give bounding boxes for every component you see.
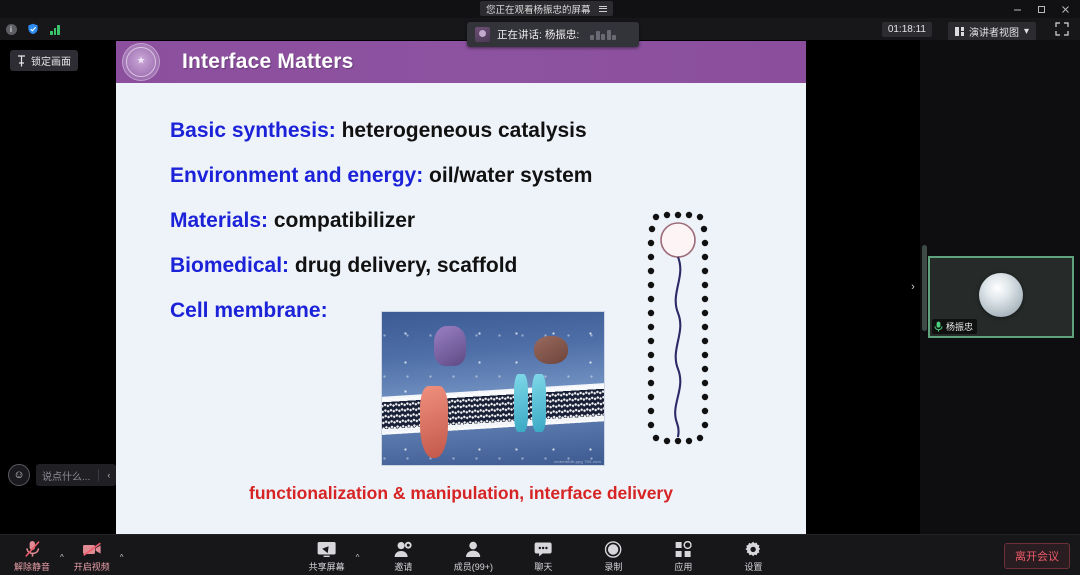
surfactant-diagram	[644, 209, 714, 449]
invite-button[interactable]: 邀请	[377, 537, 429, 574]
chat-button[interactable]: 聊天	[517, 537, 569, 574]
video-options-caret[interactable]: ^	[120, 553, 124, 574]
participant-video-tile[interactable]: 杨振忠	[928, 256, 1074, 338]
institution-logo-icon	[122, 43, 160, 81]
protein-salmon	[420, 386, 448, 458]
viewing-screen-banner: 您正在观看杨振忠的屏幕	[480, 1, 613, 16]
slide-footer-text: functionalization & manipulation, interf…	[116, 483, 806, 504]
close-icon[interactable]	[1054, 0, 1076, 18]
speaker-view-icon	[955, 27, 964, 37]
cell-membrane-image: cmembfdb.ppg 700.com	[381, 311, 605, 466]
settings-label: 设置	[744, 560, 762, 573]
participant-avatar-orb	[979, 273, 1023, 317]
encryption-shield-icon[interactable]	[22, 18, 44, 40]
unmute-button[interactable]: 解除静音	[6, 537, 58, 574]
protein-cyan-right	[532, 374, 546, 432]
apps-button[interactable]: 应用	[657, 537, 709, 574]
audio-options-caret[interactable]: ^	[60, 553, 64, 574]
start-video-button[interactable]: 开启视频	[66, 537, 118, 574]
emoji-icon[interactable]: ☺	[8, 464, 30, 486]
share-screen-label: 共享屏幕	[309, 560, 345, 573]
unmute-label: 解除静音	[14, 560, 50, 573]
record-icon	[605, 540, 622, 558]
chat-composer: ☺ 说点什么... ‹	[8, 464, 116, 486]
view-mode-selector[interactable]: 演讲者视图 ▾	[948, 22, 1036, 41]
toolbar-center-group: 共享屏幕 ^ 邀请	[301, 537, 780, 574]
avatar	[475, 27, 490, 42]
chat-input-placeholder: 说点什么...	[42, 468, 90, 483]
maximize-icon[interactable]	[1030, 0, 1052, 18]
bullet-key: Cell membrane	[170, 299, 321, 322]
settings-icon	[745, 540, 762, 558]
bullet-sep: :	[261, 209, 274, 232]
participant-name-badge: 杨振忠	[932, 319, 977, 334]
video-thumbnail-rail: › 杨振忠	[920, 40, 1080, 534]
menu-icon[interactable]	[599, 6, 607, 12]
meeting-timer: 01:18:11	[882, 22, 932, 37]
bullet-key: Basic synthesis	[170, 119, 329, 142]
bullet-key: Materials	[170, 209, 261, 232]
meeting-info-icon[interactable]: i	[0, 18, 22, 40]
list-item: Basic synthesis: heterogeneous catalysis	[170, 119, 770, 143]
participants-icon	[464, 540, 483, 558]
active-speaker-text: 正在讲话: 杨振忠:	[497, 27, 579, 42]
view-mode-label: 演讲者视图	[969, 24, 1019, 39]
active-speaker-banner: 正在讲话: 杨振忠:	[467, 22, 639, 47]
camera-off-icon	[82, 540, 102, 558]
mic-muted-icon	[24, 540, 41, 558]
invite-label: 邀请	[394, 560, 412, 573]
meeting-window: 您正在观看杨振忠的屏幕 正在讲话: 杨振忠: i 01:18:11 演讲者视图 …	[0, 0, 1080, 575]
apps-icon	[675, 540, 692, 558]
chat-icon	[534, 540, 553, 558]
head-circle	[661, 223, 695, 257]
image-credit: cmembfdb.ppg 700.com	[554, 459, 601, 464]
share-options-caret[interactable]: ^	[356, 553, 360, 574]
chevron-left-icon[interactable]: ‹	[107, 470, 110, 480]
minimize-icon[interactable]	[1006, 0, 1028, 18]
list-item: Environment and energy: oil/water system	[170, 164, 770, 188]
lock-screen-label: 锁定画面	[31, 53, 71, 68]
chevron-down-icon[interactable]: ▾	[1024, 26, 1029, 37]
presentation-slide: Interface Matters Basic synthesis: heter…	[116, 41, 806, 541]
shared-screen-stage[interactable]: Interface Matters Basic synthesis: heter…	[0, 40, 920, 534]
protein-cyan-left	[514, 374, 528, 432]
audio-wave-icon	[590, 30, 616, 40]
participants-button[interactable]: 成员(99+)	[447, 537, 499, 574]
tail-path	[675, 257, 680, 437]
fullscreen-icon[interactable]	[1054, 21, 1070, 37]
bullet-value: oil/water system	[429, 164, 592, 187]
record-button[interactable]: 录制	[587, 537, 639, 574]
participants-label: 成员(99+)	[454, 560, 493, 573]
toolbar-left-group: 解除静音 ^ 开启视频 ^	[6, 537, 124, 574]
bullet-sep: :	[416, 164, 429, 187]
protein-brown	[534, 336, 568, 364]
invite-icon	[394, 540, 413, 558]
lock-screen-button[interactable]: 锁定画面	[10, 50, 78, 71]
bullet-sep: :	[329, 119, 342, 142]
bullet-sep: :	[282, 254, 295, 277]
chat-label: 聊天	[534, 560, 552, 573]
window-controls	[1006, 0, 1076, 18]
pin-icon	[17, 55, 26, 67]
bullet-value: drug delivery, scaffold	[295, 254, 518, 277]
signal-bars	[50, 24, 60, 35]
divider	[98, 469, 99, 481]
settings-button[interactable]: 设置	[727, 537, 779, 574]
viewing-screen-text: 您正在观看杨振忠的屏幕	[486, 2, 591, 16]
bullet-value: heterogeneous catalysis	[342, 119, 587, 142]
participant-name: 杨振忠	[946, 320, 973, 333]
protein-purple	[434, 326, 466, 366]
rail-scrollbar[interactable]	[922, 245, 927, 331]
meeting-toolbar: 解除静音 ^ 开启视频 ^	[0, 534, 1080, 575]
bullet-value: compatibilizer	[274, 209, 415, 232]
slide-header: Interface Matters	[116, 41, 806, 83]
bullet-key: Environment and energy	[170, 164, 416, 187]
network-signal-icon[interactable]	[44, 18, 66, 40]
leave-meeting-button[interactable]: 离开会议	[1004, 543, 1070, 569]
chat-input[interactable]: 说点什么... ‹	[36, 464, 116, 486]
share-screen-icon	[317, 540, 337, 558]
bullet-sep: :	[321, 299, 328, 322]
record-label: 录制	[604, 560, 622, 573]
collapse-rail-button[interactable]: ›	[906, 255, 920, 319]
microphone-icon	[934, 321, 943, 332]
bullet-key: Biomedical	[170, 254, 282, 277]
info-glyph: i	[6, 24, 17, 35]
start-video-label: 开启视频	[74, 560, 110, 573]
slide-title: Interface Matters	[182, 50, 353, 74]
share-screen-button[interactable]: 共享屏幕	[301, 537, 353, 574]
apps-label: 应用	[674, 560, 692, 573]
